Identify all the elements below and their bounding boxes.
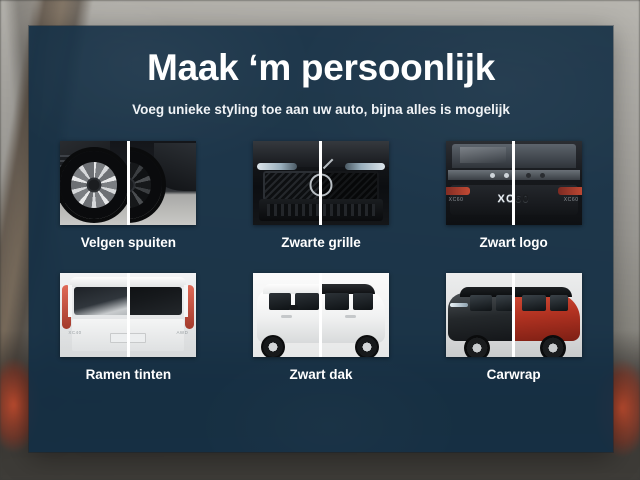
black-roof-compare-image[interactable] [253, 273, 389, 357]
personalisation-panel: Maak ‘m persoonlijk Voeg unieke styling … [29, 26, 613, 452]
option-label: Velgen spuiten [81, 234, 176, 251]
option-label: Zwart dak [289, 366, 352, 383]
carwrap-compare-image[interactable] [446, 273, 582, 357]
option-tile-zwarte-grille[interactable]: Zwarte grille [252, 141, 391, 251]
option-tile-ramen-tinten[interactable]: XC40 AWD Ramen tinten [59, 273, 198, 383]
grille-compare-image[interactable] [253, 141, 389, 225]
page-subtitle: Voeg unieke styling toe aan uw auto, bij… [53, 90, 589, 119]
option-label: Zwarte grille [281, 234, 361, 251]
option-tile-carwrap[interactable]: Carwrap [444, 273, 583, 383]
model-minibadge-left: XC60 [449, 197, 464, 203]
compare-divider[interactable] [512, 141, 515, 225]
option-tile-velgen-spuiten[interactable]: Velgen spuiten [59, 141, 198, 251]
compare-divider[interactable] [127, 273, 130, 357]
rear-logo-compare-image[interactable]: XC60 XC60 XC60 XC60 [446, 141, 582, 225]
model-minibadge-right: XC60 [564, 197, 579, 203]
option-tile-zwart-dak[interactable]: Zwart dak [252, 273, 391, 383]
compare-divider[interactable] [319, 273, 322, 357]
window-tint-compare-image[interactable]: XC40 AWD [60, 273, 196, 357]
trunk-minitext: XC40 [68, 330, 81, 335]
compare-divider[interactable] [127, 141, 130, 225]
page-title: Maak ‘m persoonlijk [53, 26, 589, 90]
trunk-minitext: AWD [176, 330, 188, 335]
compare-divider[interactable] [512, 273, 515, 357]
option-label: Carwrap [487, 366, 541, 383]
options-grid: Velgen spuiten Zwarte grille [53, 141, 589, 383]
option-label: Ramen tinten [86, 366, 172, 383]
wheel-compare-image[interactable] [60, 141, 196, 225]
option-label: Zwart logo [480, 234, 548, 251]
option-tile-zwart-logo[interactable]: XC60 XC60 XC60 XC60 [444, 141, 583, 251]
compare-divider[interactable] [319, 141, 322, 225]
model-badge-black: XC60 [514, 193, 530, 205]
